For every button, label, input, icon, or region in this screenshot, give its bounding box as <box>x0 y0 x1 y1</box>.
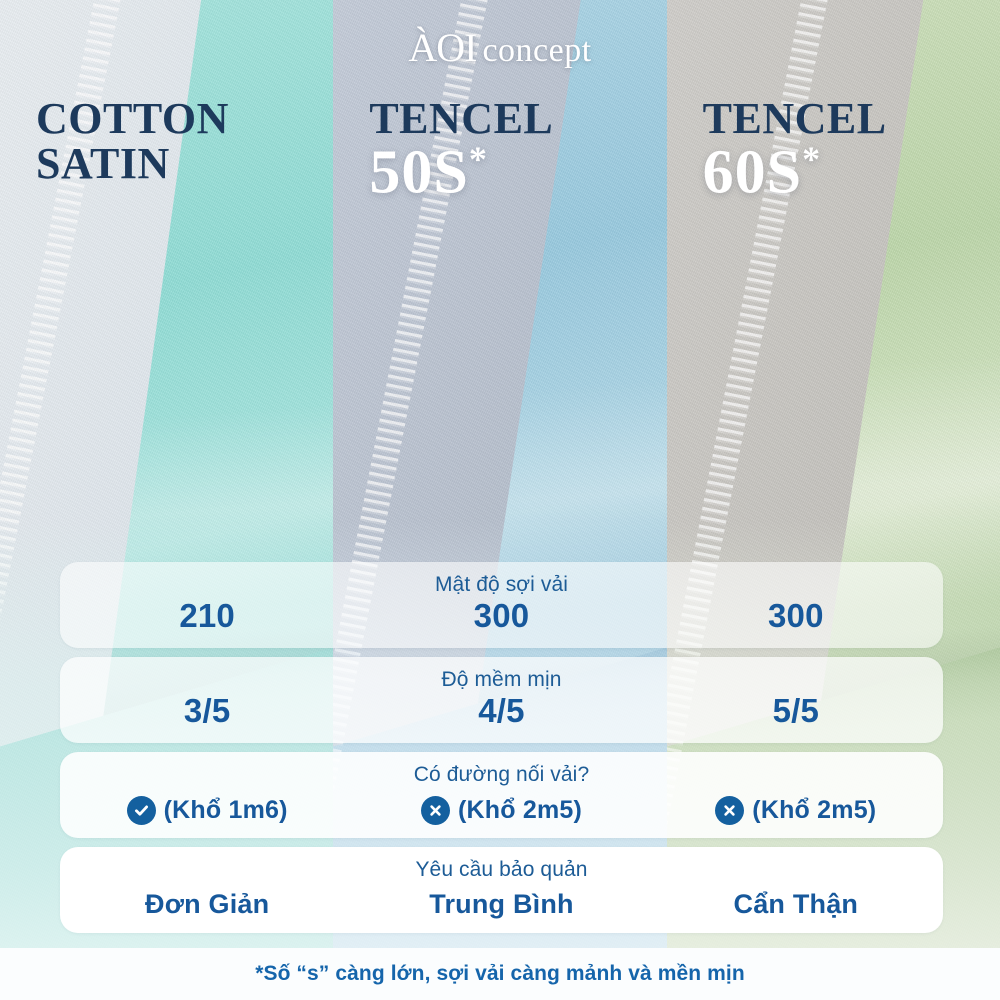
heading-count: 60S* <box>703 141 1000 204</box>
cell-value: 210 <box>179 597 235 635</box>
footnote-text: *Số “s” càng lớn, sợi vải càng mảnh và m… <box>255 962 745 986</box>
table-cell: Trung Bình <box>354 889 648 920</box>
heading-line-1: TENCEL <box>369 96 666 141</box>
column-heading-cotton-satin: COTTON SATIN <box>0 0 333 560</box>
column-headings: COTTON SATIN TENCEL 50S* TENCEL 60S* <box>0 0 1000 560</box>
table-cell: (Khổ 2m5) <box>649 796 943 825</box>
heading-line-2: SATIN <box>36 141 333 186</box>
table-cell: Cẩn Thận <box>649 889 943 920</box>
heading-count-value: 50S <box>369 139 468 207</box>
cell-value: (Khổ 2m5) <box>458 796 582 825</box>
table-cell: 300 <box>649 597 943 635</box>
cell-value: 4/5 <box>478 692 524 730</box>
heading-count-value: 60S <box>703 139 802 207</box>
column-heading-tencel-60s: TENCEL 60S* <box>667 0 1000 560</box>
x-circle-icon <box>715 796 744 825</box>
column-heading-tencel-50s: TENCEL 50S* <box>333 0 666 560</box>
brand-word: concept <box>482 32 591 69</box>
heading-count: 50S* <box>369 141 666 204</box>
table-row: Mật độ sợi vải 210 300 300 <box>60 562 943 648</box>
cell-value: Trung Bình <box>429 889 573 920</box>
table-cell: 210 <box>60 597 354 635</box>
table-cell: (Khổ 2m5) <box>354 796 648 825</box>
table-cell: 3/5 <box>60 692 354 730</box>
cell-value: 300 <box>474 597 530 635</box>
asterisk-icon: * <box>802 139 821 179</box>
brand-logo: ÀOIconcept <box>0 24 1000 71</box>
table-cell: Đơn Giản <box>60 889 354 920</box>
cell-value: (Khổ 2m5) <box>752 796 876 825</box>
row-label: Yêu cầu bảo quản <box>60 858 943 882</box>
heading-line-1: COTTON <box>36 96 333 141</box>
table-cell: 300 <box>354 597 648 635</box>
cell-value: (Khổ 1m6) <box>164 796 288 825</box>
row-label: Độ mềm mịn <box>60 668 943 692</box>
cell-value: Đơn Giản <box>145 889 269 920</box>
heading-line-1: TENCEL <box>703 96 1000 141</box>
table-row: Độ mềm mịn 3/5 4/5 5/5 <box>60 657 943 743</box>
table-cell: 4/5 <box>354 692 648 730</box>
footnote-band: *Số “s” càng lớn, sợi vải càng mảnh và m… <box>0 948 1000 1000</box>
x-circle-icon <box>421 796 450 825</box>
asterisk-icon: * <box>469 139 488 179</box>
cell-value: 300 <box>768 597 824 635</box>
table-cell: (Khổ 1m6) <box>60 796 354 825</box>
row-label: Có đường nối vải? <box>60 763 943 787</box>
table-row: Yêu cầu bảo quản Đơn Giản Trung Bình Cẩn… <box>60 847 943 933</box>
comparison-table: Mật độ sợi vải 210 300 300 Độ mềm mịn 3/… <box>60 562 943 933</box>
table-cell: 5/5 <box>649 692 943 730</box>
cell-value: Cẩn Thận <box>734 889 859 920</box>
cell-value: 3/5 <box>184 692 230 730</box>
check-circle-icon <box>127 796 156 825</box>
brand-mark: ÀOI <box>408 25 476 70</box>
product-comparison-poster: ÀOIconcept COTTON SATIN TENCEL 50S* TENC… <box>0 0 1000 1000</box>
cell-value: 5/5 <box>773 692 819 730</box>
table-row: Có đường nối vải? (Khổ 1m6) (Khổ 2m5) <box>60 752 943 838</box>
row-label: Mật độ sợi vải <box>60 573 943 597</box>
